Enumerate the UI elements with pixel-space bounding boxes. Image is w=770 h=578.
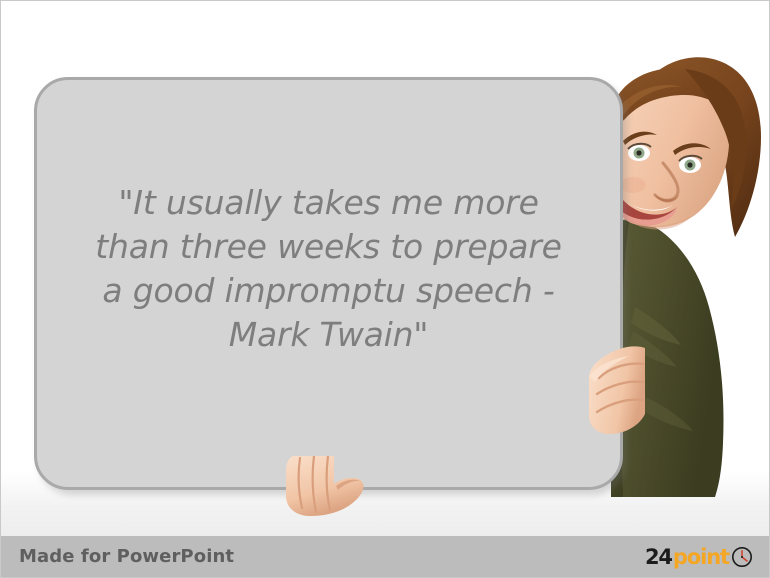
- quote-container: "It usually takes me more than three wee…: [37, 80, 620, 487]
- brand-logo[interactable]: 24 point: [645, 545, 753, 569]
- slide-canvas: "It usually takes me more than three wee…: [0, 0, 770, 578]
- clock-icon: [731, 546, 753, 568]
- footer-label: Made for PowerPoint: [19, 546, 234, 567]
- slide-stage: "It usually takes me more than three wee…: [1, 1, 769, 536]
- logo-text-24: 24: [645, 545, 672, 569]
- quote-text: "It usually takes me more than three wee…: [95, 181, 561, 357]
- footer-bar: Made for PowerPoint 24 point: [1, 536, 769, 577]
- whiteboard-sign[interactable]: "It usually takes me more than three wee…: [34, 77, 623, 490]
- character-left-hand: [284, 456, 370, 518]
- logo-text-point: point: [673, 545, 729, 569]
- character-right-hand: [587, 342, 647, 438]
